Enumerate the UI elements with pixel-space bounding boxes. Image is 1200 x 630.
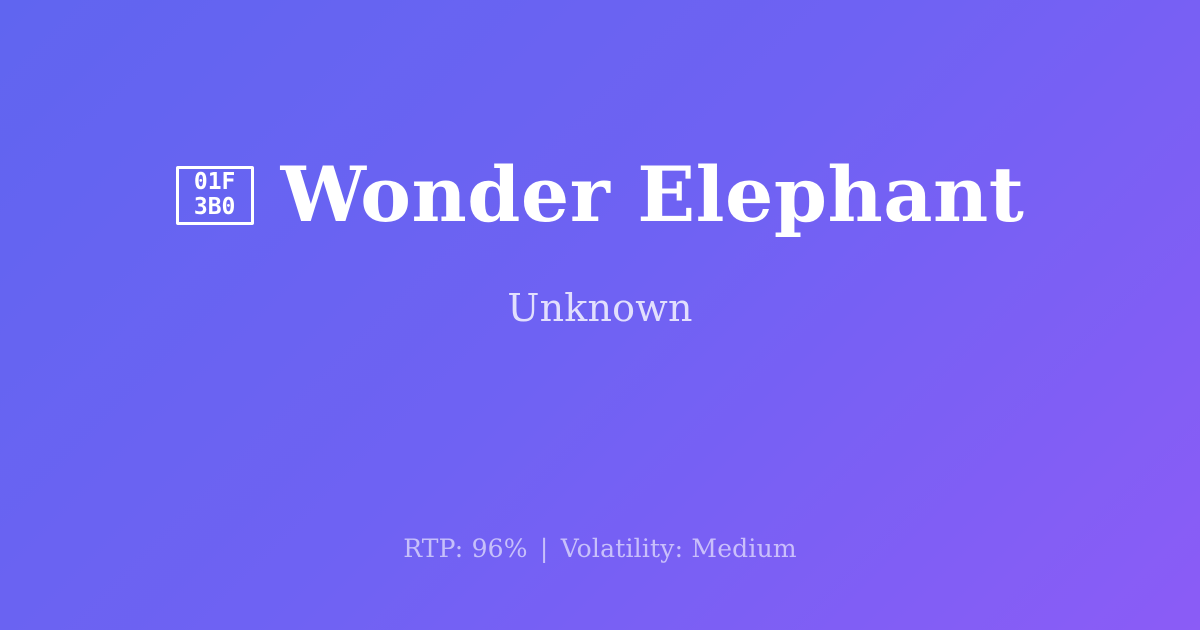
tofu-codepoint-top: 01F — [194, 170, 236, 195]
rtp-label: RTP: — [403, 534, 463, 563]
slot-machine-emoji-tofu-icon: 01F 3B0 — [176, 166, 254, 225]
title-row: 01F 3B0 Wonder Elephant — [0, 152, 1200, 238]
rtp-value: 96% — [472, 534, 528, 563]
volatility-label: Volatility: — [561, 534, 684, 563]
subtitle: Unknown — [507, 286, 692, 330]
meta-separator: | — [536, 534, 553, 563]
hero-block: 01F 3B0 Wonder Elephant Unknown — [0, 0, 1200, 500]
game-meta-line: RTP: 96% | Volatility: Medium — [0, 534, 1200, 564]
page-title: Wonder Elephant — [281, 152, 1025, 238]
volatility-value: Medium — [691, 534, 796, 563]
tofu-codepoint-bottom: 3B0 — [194, 195, 236, 220]
og-share-card: 01F 3B0 Wonder Elephant Unknown RTP: 96%… — [0, 0, 1200, 630]
